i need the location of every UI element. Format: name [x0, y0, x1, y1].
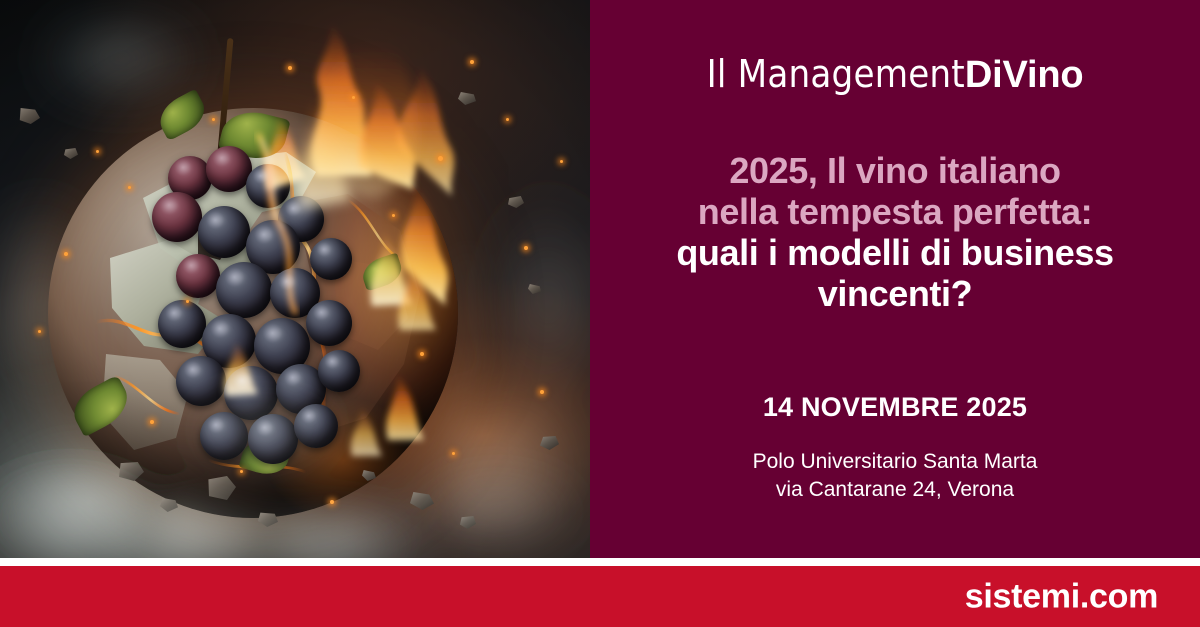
hero-image — [0, 0, 590, 558]
headline-line-2: nella tempesta perfetta: — [610, 191, 1180, 232]
footer-bar: sistemi.com — [0, 566, 1200, 627]
venue-address: via Cantarane 24, Verona — [590, 476, 1200, 504]
brand-name-light: Il Management — [707, 52, 965, 96]
headline-line-4: vincenti? — [610, 273, 1180, 314]
content-panel: Il ManagementDiVino 2025, Il vino italia… — [590, 0, 1200, 558]
venue-name: Polo Universitario Santa Marta — [590, 448, 1200, 476]
event-poster: Il ManagementDiVino 2025, Il vino italia… — [0, 0, 1200, 627]
headline-line-3: quali i modelli di business — [610, 232, 1180, 273]
page-title: 2025, Il vino italiano nella tempesta pe… — [610, 150, 1180, 314]
website-logo[interactable]: sistemi.com — [965, 577, 1158, 616]
hero-vignette — [0, 0, 590, 558]
brand-lockup: Il ManagementDiVino — [590, 52, 1200, 97]
event-venue: Polo Universitario Santa Marta via Canta… — [590, 448, 1200, 503]
headline-line-1: 2025, Il vino italiano — [610, 150, 1180, 191]
event-date: 14 NOVEMBRE 2025 — [590, 392, 1200, 423]
footer-divider — [0, 558, 1200, 566]
brand-name-bold: DiVino — [965, 54, 1083, 96]
